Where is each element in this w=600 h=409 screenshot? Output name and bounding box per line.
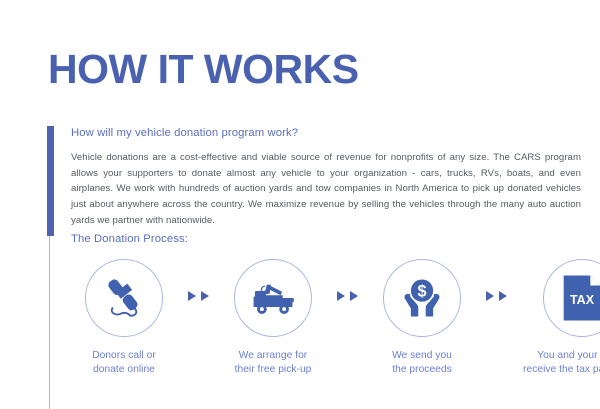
left-accent-bar	[47, 126, 54, 236]
intro-question: How will my vehicle donation program wor…	[71, 125, 581, 141]
process-step-donors-call: Donors call or donate online	[60, 259, 188, 378]
intro-body-text: Vehicle donations are a cost-effective a…	[71, 150, 581, 228]
right-triangle-arrow-icon	[499, 291, 507, 301]
right-triangle-arrow-icon	[350, 291, 358, 301]
intro-block: How will my vehicle donation program wor…	[71, 125, 581, 228]
right-triangle-arrow-icon	[486, 291, 494, 301]
page-root: HOW IT WORKS How will my vehicle donatio…	[0, 0, 600, 409]
step-circle	[234, 259, 312, 337]
step-separator-arrows	[486, 291, 507, 301]
step-caption: We arrange for their free pick-up	[235, 349, 312, 378]
step-separator-arrows	[188, 291, 209, 301]
step-circle: TAX	[543, 259, 600, 337]
tax-document-label: TAX	[570, 293, 595, 307]
tow-truck-icon	[248, 276, 298, 320]
right-triangle-arrow-icon	[201, 291, 209, 301]
step-caption: You and your donor receive the tax paper…	[523, 349, 600, 378]
right-triangle-arrow-icon	[188, 291, 196, 301]
step-circle: $	[383, 259, 461, 337]
process-step-proceeds: $ We send you the proceeds	[358, 259, 486, 378]
step-separator-arrows	[337, 291, 358, 301]
hands-holding-dollar-icon: $	[398, 275, 446, 321]
step-caption: We send you the proceeds	[392, 349, 452, 378]
tax-document-icon: TAX	[560, 273, 600, 323]
process-step-tax-paperwork: TAX You and your donor receive the tax p…	[507, 259, 600, 378]
phone-handset-icon	[101, 275, 147, 321]
step-circle	[85, 259, 163, 337]
process-heading: The Donation Process:	[71, 233, 188, 245]
donation-process-steps: Donors call or donate online	[60, 259, 590, 389]
right-triangle-arrow-icon	[337, 291, 345, 301]
process-step-pickup: We arrange for their free pick-up	[209, 259, 337, 378]
page-title: HOW IT WORKS	[48, 49, 359, 90]
left-accent-line	[49, 236, 50, 409]
step-caption: Donors call or donate online	[92, 349, 156, 378]
svg-text:$: $	[417, 283, 426, 301]
